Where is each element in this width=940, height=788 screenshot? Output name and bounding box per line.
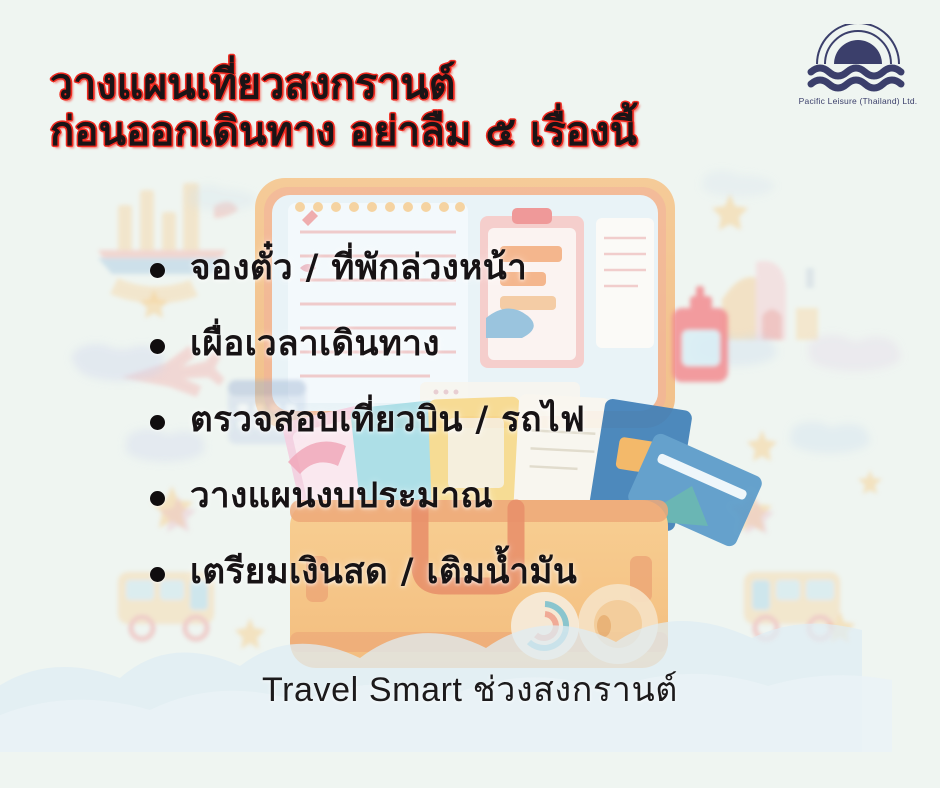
footer-tagline: Travel Smart ช่วงสงกรานต์ xyxy=(262,671,678,709)
bullet-icon xyxy=(150,415,165,430)
headline-line-2: ก่อนออกเดินทาง อย่าลืม ๕ เรื่องนี้ xyxy=(50,112,810,153)
headline-line-1: วางแผนเที่ยวสงกรานต์ xyxy=(50,64,810,106)
list-item-label: ตรวจสอบเที่ยวบิน / รถไฟ xyxy=(190,395,585,446)
bullet-icon xyxy=(150,491,165,506)
page-title: วางแผนเที่ยวสงกรานต์ ก่อนออกเดินทาง อย่า… xyxy=(50,64,810,153)
list-item: ตรวจสอบเที่ยวบิน / รถไฟ xyxy=(150,395,910,451)
list-item-label: วางแผนงบประมาณ xyxy=(190,471,493,522)
logo-company-name: Pacific Leisure (Thailand) Ltd. xyxy=(799,96,918,106)
poster-canvas: Pacific Leisure (Thailand) Ltd. วางแผนเท… xyxy=(0,0,940,788)
bullet-icon xyxy=(150,339,165,354)
list-item-label: เตรียมเงินสด / เติมน้ำมัน xyxy=(190,547,577,598)
list-item: จองตั๋ว / ที่พักล่วงหน้า xyxy=(150,243,910,299)
list-item-label: จองตั๋ว / ที่พักล่วงหน้า xyxy=(190,243,527,294)
bullet-icon xyxy=(150,567,165,582)
footer: Travel Smart ช่วงสงกรานต์ xyxy=(0,662,940,716)
list-item: วางแผนงบประมาณ xyxy=(150,471,910,527)
list-item: เตรียมเงินสด / เติมน้ำมัน xyxy=(150,547,910,603)
sunrise-over-waves-logo-icon xyxy=(803,24,913,94)
checklist: จองตั๋ว / ที่พักล่วงหน้า เผื่อเวลาเดินทา… xyxy=(150,243,910,623)
company-logo: Pacific Leisure (Thailand) Ltd. xyxy=(794,24,922,122)
list-item-label: เผื่อเวลาเดินทาง xyxy=(190,319,440,370)
list-item: เผื่อเวลาเดินทาง xyxy=(150,319,910,375)
bullet-icon xyxy=(150,263,165,278)
